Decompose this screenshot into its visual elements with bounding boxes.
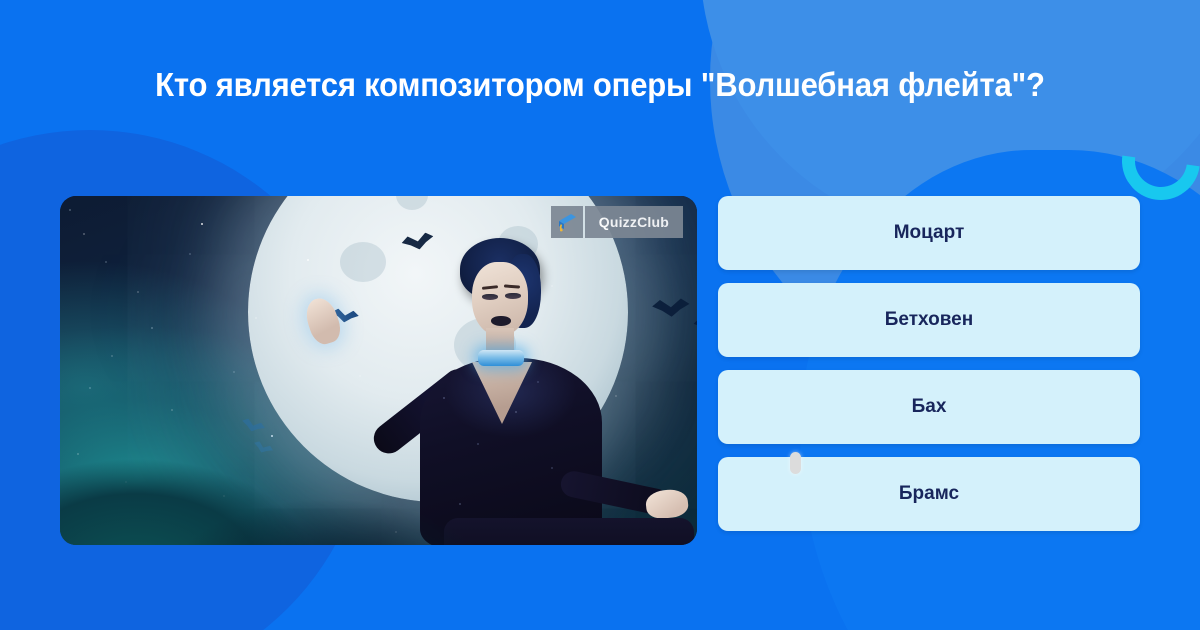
watermark-brand-label: QuizzClub (585, 206, 683, 238)
eye-right (505, 293, 521, 299)
landscape-ridge-center (180, 475, 480, 545)
watermark-badge: QuizzClub (551, 206, 683, 238)
answer-option-1[interactable]: Моцарт (718, 196, 1140, 270)
answer-option-label: Бах (912, 396, 947, 418)
answer-option-2[interactable]: Бетховен (718, 283, 1140, 357)
answer-option-3[interactable]: Бах (718, 370, 1140, 444)
answer-options-list: Моцарт Бетховен Бах Брамс (718, 196, 1140, 531)
eye-left (482, 294, 498, 300)
page-title: Кто является композитором оперы "Волшебн… (36, 66, 1164, 104)
answer-option-label: Брамс (899, 483, 959, 505)
lips (491, 316, 511, 326)
scroll-indicator[interactable] (790, 452, 801, 474)
question-image: QuizzClub (60, 196, 697, 545)
answer-option-label: Моцарт (894, 222, 965, 244)
graduation-cap-icon (551, 206, 583, 238)
answer-option-label: Бетховен (885, 309, 973, 331)
quiz-card: Кто является композитором оперы "Волшебн… (0, 0, 1200, 630)
dress-skirt (444, 518, 694, 545)
choker-necklace (478, 350, 524, 366)
answer-option-4[interactable]: Брамс (718, 457, 1140, 531)
